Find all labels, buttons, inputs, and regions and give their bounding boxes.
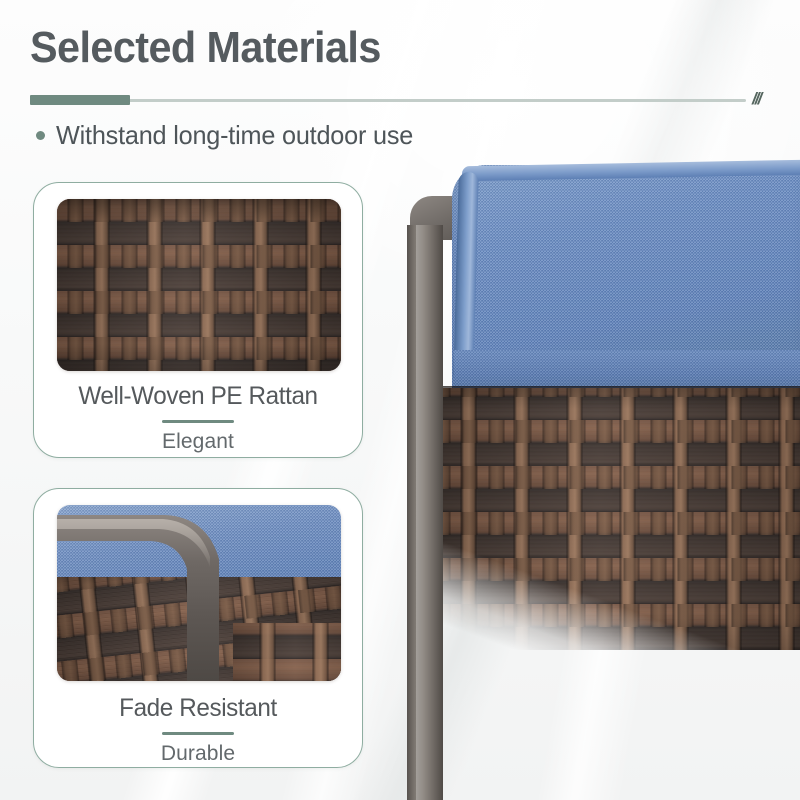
pe-rattan-weave-closeup-photo (57, 199, 341, 371)
rattan-texture (438, 388, 800, 650)
patio-chair-blue-cushion-rattan-photo (392, 0, 800, 800)
bullet-dot-icon (36, 131, 45, 140)
armrest-metal-frame (57, 507, 262, 681)
rattan-fill (438, 388, 800, 650)
page-title: Selected Materials (30, 23, 381, 73)
card-title-rattan: Well-Woven PE Rattan (39, 381, 357, 411)
feature-bullet-label: Withstand long-time outdoor use (56, 120, 413, 151)
feature-bullet: Withstand long-time outdoor use (36, 120, 424, 151)
armrest-corner-scene (57, 505, 341, 681)
card-rule-rattan (162, 420, 234, 423)
card-caption-rattan: Well-Woven PE Rattan Elegant (34, 381, 362, 455)
feature-card-fade: Fade Resistant Durable (33, 488, 363, 768)
chair-front-leg (407, 225, 443, 800)
chair-rattan-body (438, 388, 800, 650)
feature-card-rattan: Well-Woven PE Rattan Elegant (33, 182, 363, 458)
card-subtitle-fade: Durable (34, 741, 362, 767)
chair-leg-highlight (416, 225, 423, 800)
rattan-texture (57, 199, 341, 371)
rattan-shading-overlay (438, 388, 800, 650)
card-rule-fade (162, 732, 234, 735)
rattan-shading-overlay (57, 199, 341, 371)
card-subtitle-rattan: Elegant (34, 429, 362, 455)
divider-accent-segment (30, 95, 130, 105)
chair-armrest-corner-photo (57, 505, 341, 681)
infographic-canvas: Selected Materials /// Withstand long-ti… (0, 0, 800, 800)
card-caption-fade: Fade Resistant Durable (34, 693, 362, 767)
card-title-fade: Fade Resistant (39, 693, 357, 723)
